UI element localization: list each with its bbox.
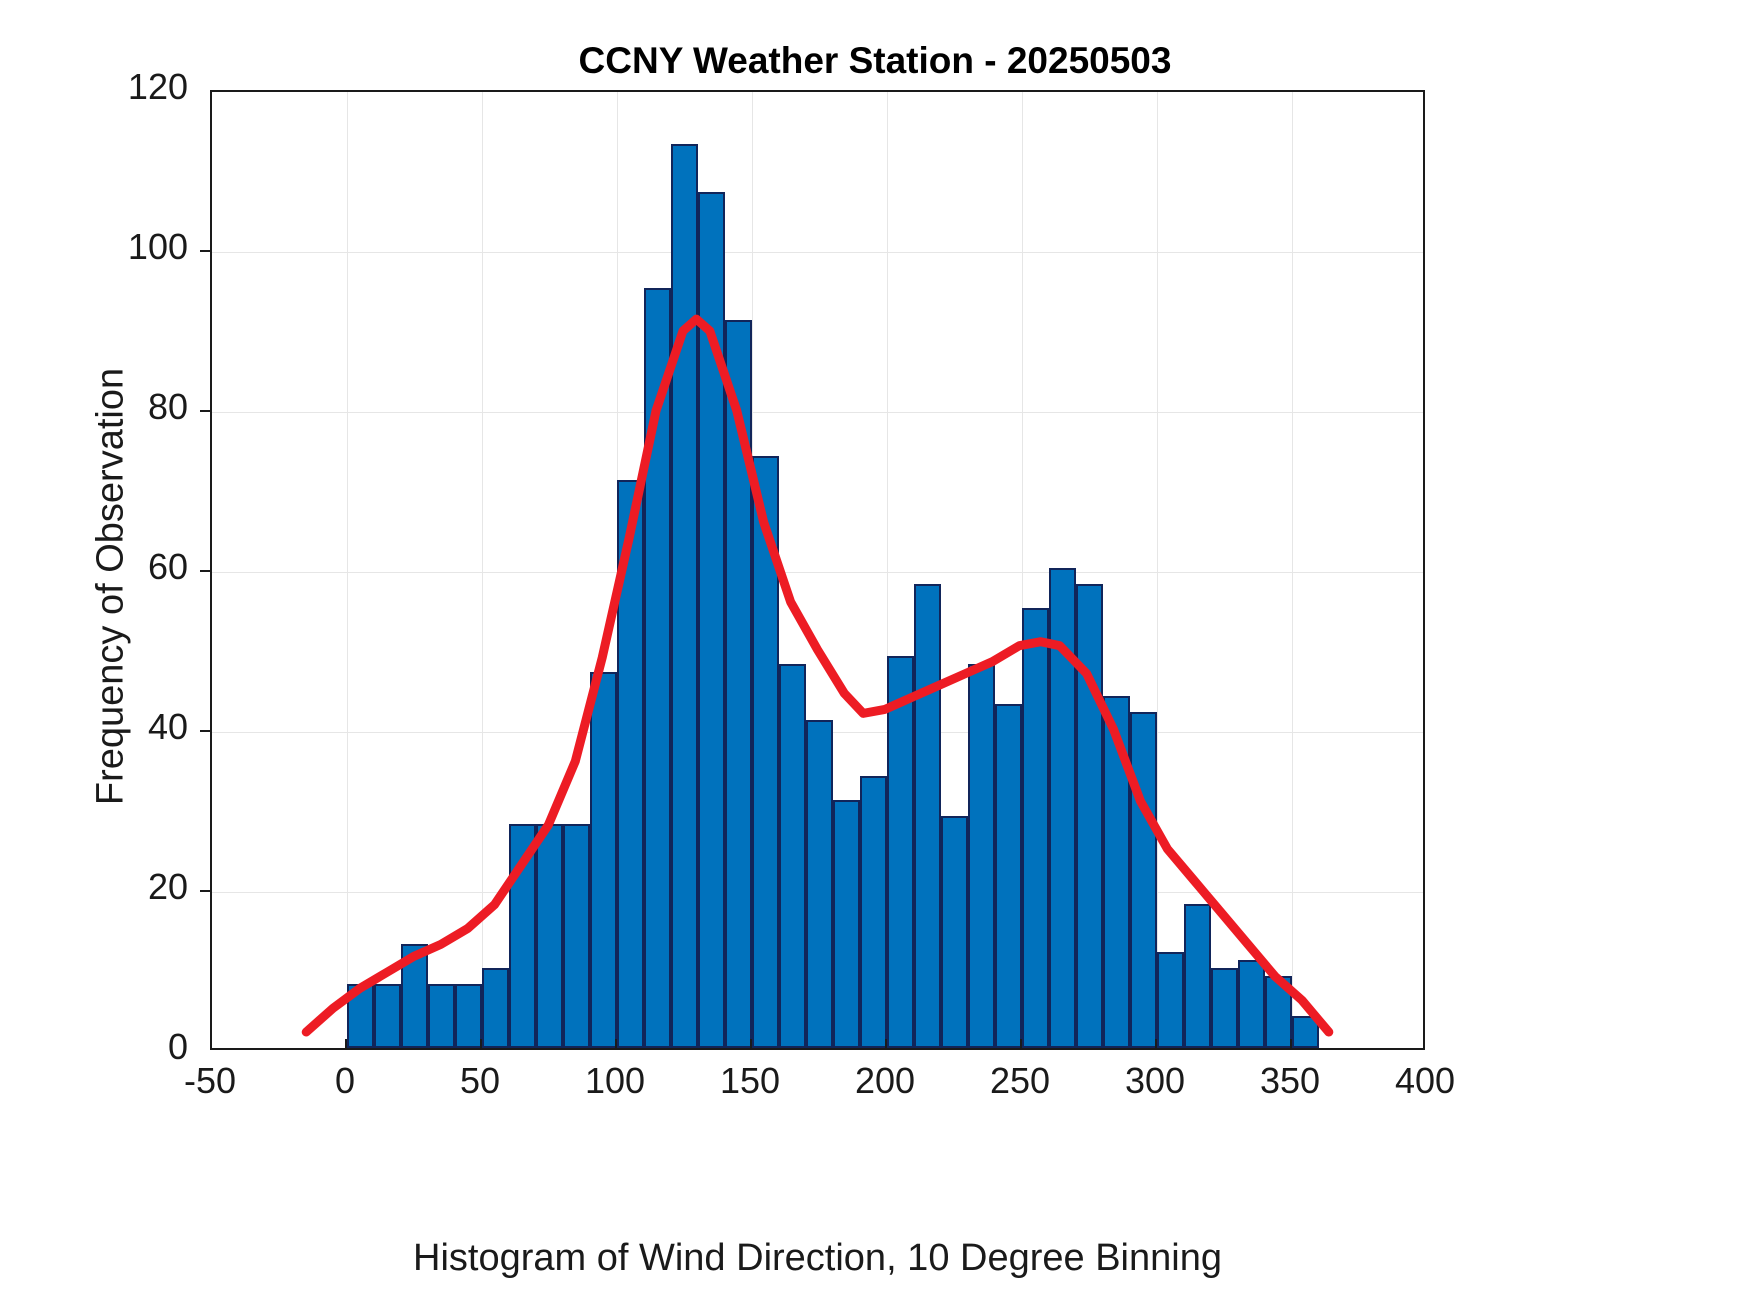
x-tick-label: 150	[680, 1060, 820, 1102]
x-tick-label: 200	[815, 1060, 955, 1102]
density-curve	[212, 92, 1423, 1048]
x-tick-label: 250	[950, 1060, 1090, 1102]
x-tick-label: 300	[1085, 1060, 1225, 1102]
x-axis-title: Histogram of Wind Direction, 10 Degree B…	[210, 1237, 1425, 1280]
x-tick-label: -50	[140, 1060, 280, 1102]
x-tick-label: 0	[275, 1060, 415, 1102]
x-tick-label: 350	[1220, 1060, 1360, 1102]
x-tick-label: 50	[410, 1060, 550, 1102]
x-tick-label: 100	[545, 1060, 685, 1102]
x-tick-label: 400	[1355, 1060, 1495, 1102]
chart-title: CCNY Weather Station - 20250503	[0, 40, 1750, 82]
y-tick-label: 0	[28, 1026, 188, 1068]
plot-area	[210, 90, 1425, 1050]
chart-root: CCNY Weather Station - 20250503 02040608…	[0, 0, 1750, 1313]
y-axis-title: Frequency of Observation	[90, 237, 133, 937]
